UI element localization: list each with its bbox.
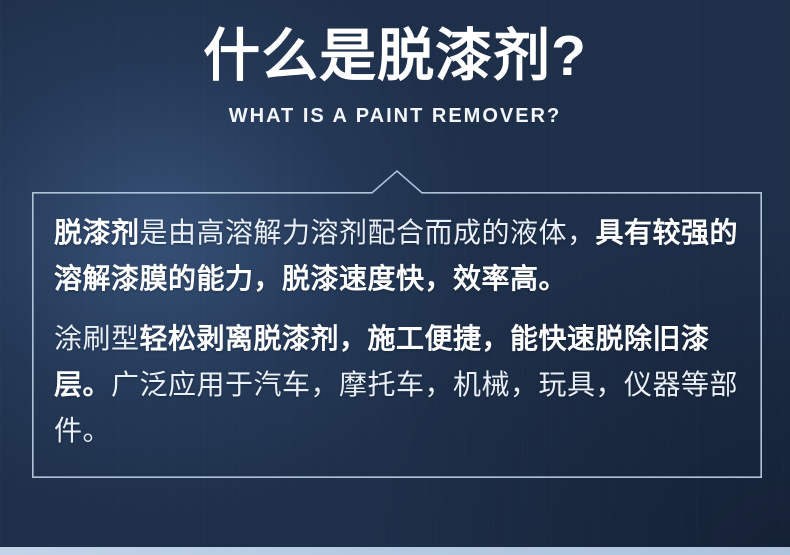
content-panel: 脱漆剂是由高溶解力溶剂配合而成的液体，具有较强的溶解漆膜的能力，脱漆速度快，效率… [32,192,762,478]
panel-text-body: 脱漆剂是由高溶解力溶剂配合而成的液体，具有较强的溶解漆膜的能力，脱漆速度快，效率… [54,210,746,454]
page-title: 什么是脱漆剂? [0,20,790,92]
paragraph-1-run-1: 是由高溶解力溶剂配合而成的液体， [140,217,596,248]
paragraph-1-run-0: 脱漆剂 [54,217,140,248]
paragraph-2: 涂刷型轻松剥离脱漆剂，施工便捷，能快速脱除旧漆层。广泛应用于汽车，摩托车，机械，… [54,316,746,454]
paragraph-2-run-0: 涂刷型 [54,323,140,354]
bottom-accent-band [0,547,790,555]
poster-root: 什么是脱漆剂? WHAT IS A PAINT REMOVER? 脱漆剂是由高溶… [0,0,790,555]
heading-block: 什么是脱漆剂? WHAT IS A PAINT REMOVER? [0,20,790,128]
paragraph-2-run-2: 广泛应用于汽车，摩托车，机械，玩具，仪器等部件。 [54,369,738,446]
paragraph-1: 脱漆剂是由高溶解力溶剂配合而成的液体，具有较强的溶解漆膜的能力，脱漆速度快，效率… [54,210,746,302]
page-subtitle: WHAT IS A PAINT REMOVER? [0,104,790,128]
